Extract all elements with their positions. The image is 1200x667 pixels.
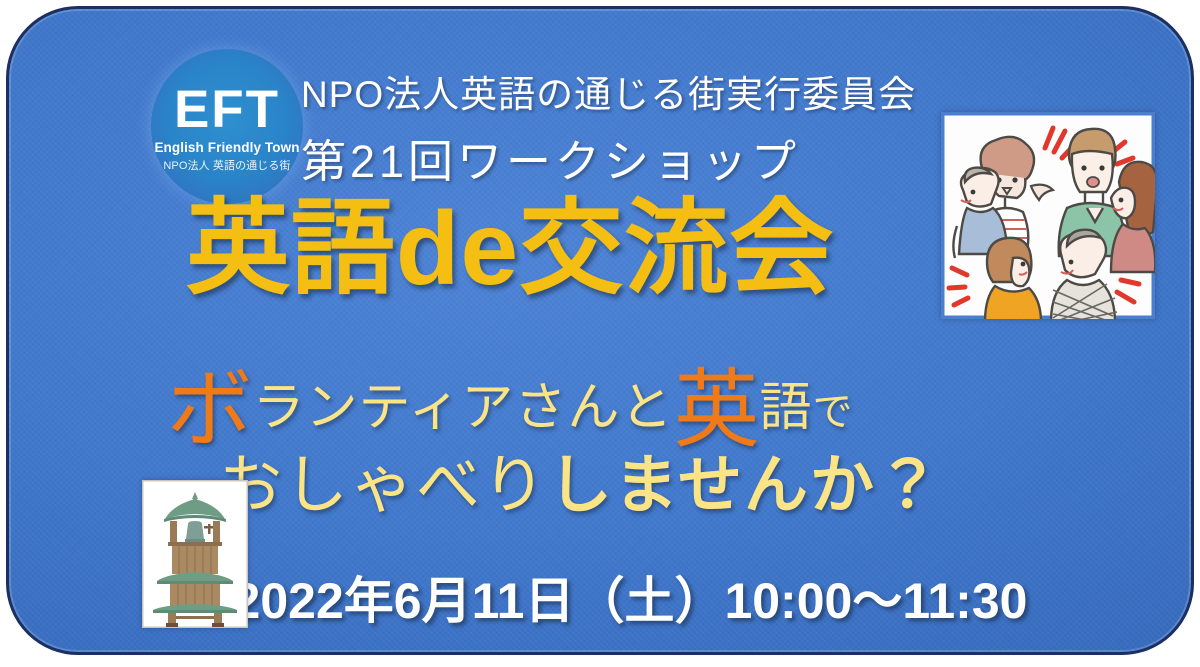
people-chatting-photo bbox=[941, 112, 1155, 319]
people-chatting-illustration-icon bbox=[941, 112, 1155, 319]
japanese-bell-tower-illustration-icon bbox=[142, 480, 248, 628]
tagline-oshaberi-text: おしゃべり bbox=[218, 449, 548, 521]
tagline-volunteer-text: ランティアさんと bbox=[253, 379, 674, 437]
bell-tower-photo bbox=[142, 480, 248, 628]
workshop-number-title: 第21回ワークショップ bbox=[301, 125, 800, 190]
tagline-go-character: 語 bbox=[759, 379, 812, 437]
eft-logo-tagline-ja: NPO法人 英語の通じる街 bbox=[163, 157, 290, 173]
organization-name: NPO法人英語の通じる街実行委員会 bbox=[301, 64, 916, 118]
tagline-de-character: で bbox=[812, 390, 853, 434]
eft-logo-tagline-en: English Friendly Town bbox=[154, 140, 299, 155]
tagline-question-text: しませんか？ bbox=[548, 449, 942, 521]
eft-logo-badge: EFT English Friendly Town NPO法人 英語の通じる街 bbox=[151, 49, 303, 204]
event-poster: EFT English Friendly Town NPO法人 英語の通じる街 … bbox=[6, 6, 1194, 655]
eft-logo-acronym: EFT bbox=[174, 84, 280, 136]
